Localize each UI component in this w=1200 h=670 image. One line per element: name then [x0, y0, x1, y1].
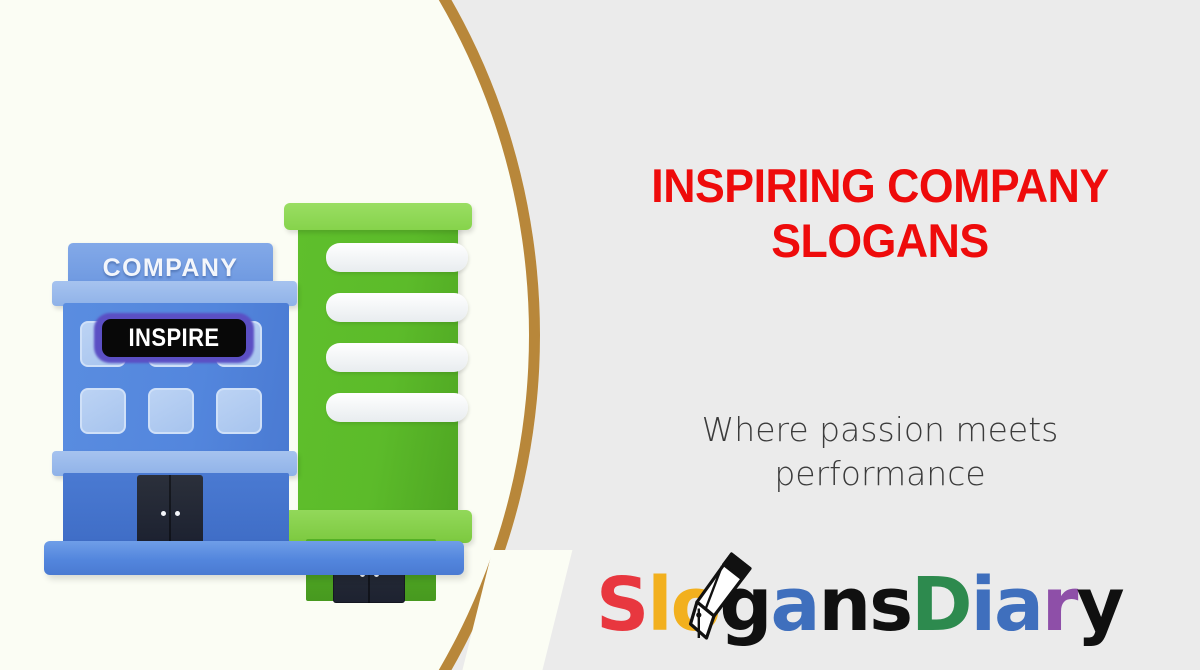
- inspire-sign-label: INSPIRE: [111, 319, 238, 357]
- logo-letter: S: [596, 562, 647, 648]
- door-handle-icon: [175, 511, 180, 516]
- logo-letter: a: [771, 562, 819, 648]
- logo-letter: r: [1042, 562, 1077, 648]
- page-title-line1: INSPIRING COMPANY: [576, 158, 1184, 213]
- green-tower-band: [326, 243, 468, 272]
- logo-letter: D: [911, 562, 970, 648]
- blue-building-window: [216, 388, 262, 434]
- logo-letter: i: [971, 562, 994, 648]
- logo-letter: s: [869, 562, 911, 648]
- page-subtitle-line1: Where passion meets: [590, 408, 1170, 452]
- inspire-marquee-sign: INSPIRE: [88, 301, 263, 376]
- logo-letter: a: [994, 562, 1042, 648]
- blue-building-window: [148, 388, 194, 434]
- poster-canvas: COMPANY INSPIRE: [0, 0, 1200, 670]
- logo-letter: o: [671, 562, 720, 648]
- company-building-illustration: COMPANY INSPIRE: [38, 183, 478, 593]
- green-tower-roof-cap: [284, 203, 472, 230]
- blue-entrance-door: [137, 475, 203, 545]
- logo-letter: l: [647, 562, 670, 648]
- logo-letter: n: [818, 562, 869, 648]
- door-handle-icon: [161, 511, 166, 516]
- page-title: INSPIRING COMPANY SLOGANS: [576, 158, 1184, 268]
- green-tower-band: [326, 343, 468, 372]
- page-subtitle-line2: performance: [590, 452, 1170, 496]
- slogansdiary-logo[interactable]: SlogansDiary: [596, 560, 1176, 650]
- building-platform: [44, 541, 464, 575]
- green-tower-band: [326, 393, 468, 422]
- logo-letter: y: [1076, 562, 1122, 648]
- text-column: INSPIRING COMPANY SLOGANS Where passion …: [560, 0, 1200, 670]
- blue-building-window: [80, 388, 126, 434]
- logo-letter: g: [720, 562, 771, 648]
- page-title-line2: SLOGANS: [576, 213, 1184, 268]
- page-subtitle: Where passion meets performance: [590, 408, 1170, 496]
- green-tower-band: [326, 293, 468, 322]
